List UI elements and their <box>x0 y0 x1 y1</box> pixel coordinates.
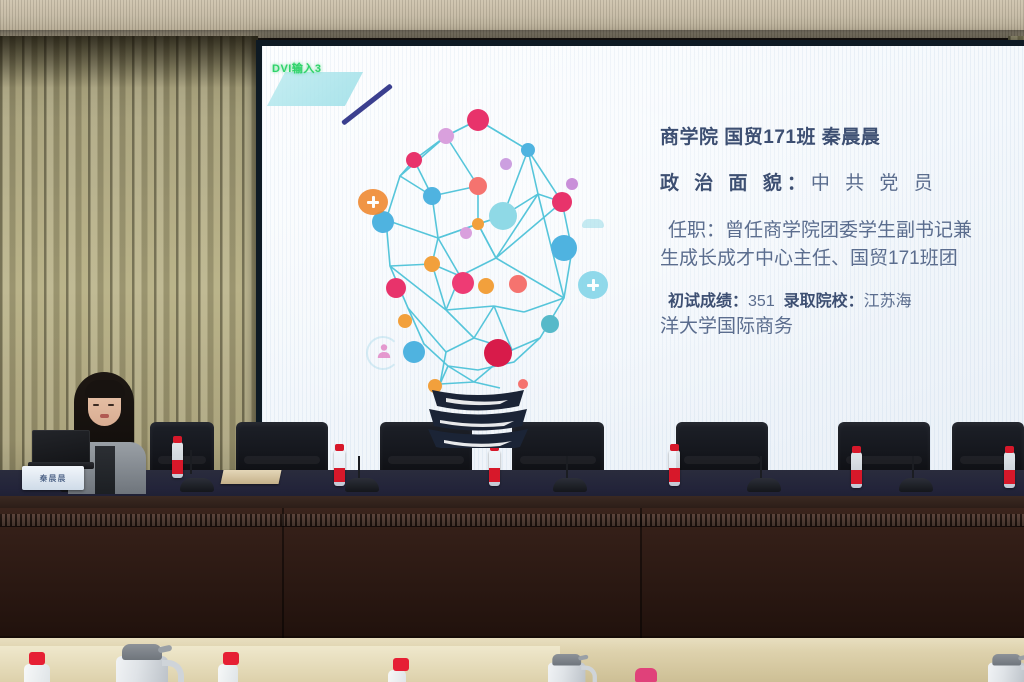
microphone-arm <box>566 456 568 480</box>
water-bottle <box>489 450 500 486</box>
political-value: 中 共 党 员 <box>811 173 938 194</box>
slide-text-block: 商学院 国贸171班 秦晨晨 政 治 面 貌：中 共 党 员 任职：曾任商学院团… <box>660 124 1024 359</box>
projector-input-osd: DVI输入3 <box>272 60 321 76</box>
water-bottle <box>334 450 345 486</box>
podium-panel-seam <box>282 508 284 640</box>
projection-screen: DVI输入3 <box>262 46 1024 486</box>
exam-score-label: 初试成绩 <box>668 293 732 310</box>
slide-line-position-2: 生成长成才中心主任、国贸171班团 <box>660 245 1024 273</box>
microphone-arm <box>912 456 914 480</box>
score-line-2-text: 洋大学国际商务 <box>660 316 793 337</box>
person-icon <box>376 343 392 359</box>
scene-photo: DVI输入3 <box>0 0 1024 682</box>
position-line-2-text: 生成长成才中心主任、国贸171班团 <box>660 248 958 269</box>
podium-panel-seam <box>640 508 642 640</box>
microphone-base <box>747 478 781 492</box>
laptop <box>28 430 90 468</box>
slide-line-political: 政 治 面 貌：中 共 党 员 <box>660 170 1024 198</box>
laptop-screen <box>32 430 90 464</box>
plus-badge-left-icon <box>358 189 388 215</box>
slide-line-score-2: 洋大学国际商务 <box>660 313 1024 341</box>
foreground-water-bottle <box>218 664 238 682</box>
admitted-school-value: 江苏海 <box>864 293 912 310</box>
water-bottle <box>851 452 862 488</box>
microphone-base <box>899 478 933 492</box>
podium-front-panel <box>0 508 1024 640</box>
podium-molding <box>0 514 1024 526</box>
foreground-pink-cap <box>635 668 657 682</box>
plus-badge-right-icon <box>578 271 608 299</box>
foreground-table-left <box>0 646 560 682</box>
microphone-arm <box>760 456 762 480</box>
nameplate-text: 秦晨晨 <box>40 473 67 484</box>
foreground-water-bottle <box>388 670 406 682</box>
cloud-icon <box>582 219 604 228</box>
political-separator: ： <box>787 173 811 194</box>
notebook <box>221 470 282 484</box>
exam-score-value: 351 <box>748 293 775 310</box>
microphone-base <box>345 478 379 492</box>
water-bottle <box>669 450 680 486</box>
foreground-water-bottle <box>24 664 50 682</box>
presenter-top <box>95 446 115 494</box>
microphone-base <box>180 478 214 492</box>
microphone-arm <box>358 456 360 480</box>
slide-line-identity: 商学院 国贸171班 秦晨晨 <box>660 124 1024 152</box>
presenter-fringe <box>85 380 125 398</box>
water-bottle <box>172 442 183 478</box>
slide-line-score-1: 初试成绩：351 录取院校：江苏海 <box>660 290 1024 313</box>
slide-line-position-1: 任职：曾任商学院团委学生副书记兼 <box>660 217 1024 245</box>
presenter-mouth <box>100 414 109 418</box>
slide-block-position: 任职：曾任商学院团委学生副书记兼 生成长成才中心主任、国贸171班团 <box>660 217 1024 272</box>
microphone-base <box>553 478 587 492</box>
water-bottle <box>1004 452 1015 488</box>
slide-block-score: 初试成绩：351 录取院校：江苏海 洋大学国际商务 <box>660 290 1024 341</box>
position-line-1-text: 任职：曾任商学院团委学生副书记兼 <box>668 220 972 241</box>
nameplate: 秦晨晨 <box>22 466 84 490</box>
microphone-arm <box>190 450 192 474</box>
admitted-school-label: 录取院校 <box>784 293 848 310</box>
curtain-left-shadow <box>0 36 258 88</box>
political-label: 政 治 面 貌 <box>660 173 787 194</box>
